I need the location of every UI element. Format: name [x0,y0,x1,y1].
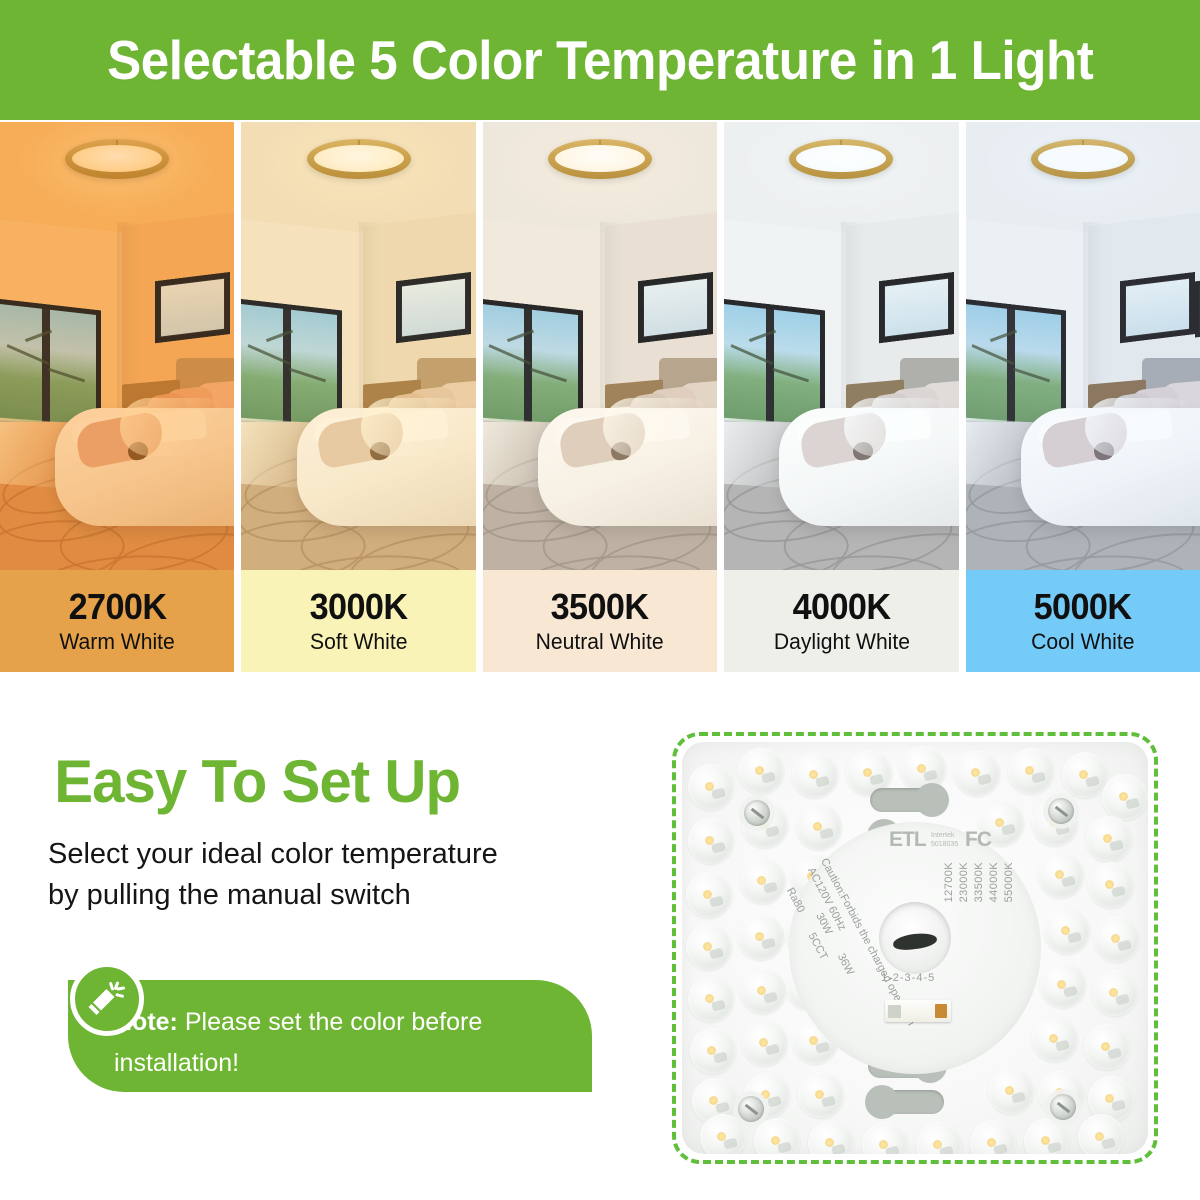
note-text: Note: Please set the color before instal… [114,1002,574,1083]
ct-label-4000k: 4000K Daylight White [724,570,958,672]
ct-name: Cool White [1031,630,1134,654]
ct-kelvin: 2700K [68,588,166,626]
infographic-page: Selectable 5 Color Temperature in 1 Ligh… [0,0,1200,1200]
bed [1008,358,1200,528]
cert-number: Intertek 5018035 [931,832,958,850]
manual-switch[interactable] [885,1000,951,1022]
module-body: ETL Intertek 5018035 FC Caution:Forbids … [682,742,1148,1154]
cct-option-2700k: 12700K [943,862,955,902]
setup-subtitle-line2: by pulling the manual switch [48,875,608,916]
window-small [396,272,471,343]
ceiling-light-fixture [548,139,652,179]
page-title: Selectable 5 Color Temperature in 1 Ligh… [107,33,1093,88]
window-small-edge [1195,278,1200,337]
ct-kelvin: 5000K [1034,588,1132,626]
ct-kelvin: 3000K [310,588,408,626]
room-photo-5000k [966,122,1200,570]
ct-panel-2700k: 2700K Warm White [0,122,234,672]
ct-panel-5000k: 5000K Cool White [966,122,1200,672]
cri-spec: Ra80 [784,886,807,915]
bed [766,358,958,528]
setup-heading: Easy To Set Up [54,752,460,812]
ct-label-2700k: 2700K Warm White [0,570,234,672]
color-temperature-strip: 2700K Warm White [0,122,1200,672]
ct-kelvin: 4000K [792,588,890,626]
ceiling-light-fixture [789,139,893,179]
led-module: ETL Intertek 5018035 FC Caution:Forbids … [672,732,1158,1164]
ct-panel-3000k: 3000K Soft White [241,122,475,672]
bed [284,358,476,528]
bed [42,358,234,528]
ct-label-3500k: 3500K Neutral White [483,570,717,672]
cct-option-3000k: 23000K [958,862,970,902]
cct-option-3500k: 33500K [973,862,985,902]
window-small [1120,272,1195,343]
ct-label-3000k: 3000K Soft White [241,570,475,672]
megaphone-icon [70,962,144,1036]
ct-label-5000k: 5000K Cool White [966,570,1200,672]
setup-subtitle: Select your ideal color temperature by p… [48,834,608,916]
room-photo-3000k [241,122,475,570]
cct-option-4000k: 44000K [988,862,1000,902]
cct-option-list: 12700K 23000K 33500K 44000K 55000K [943,862,1015,902]
switch-positions: 1-2-3-4-5 [881,972,935,984]
ct-name: Soft White [310,630,407,654]
room-photo-3500k [483,122,717,570]
room-photo-4000k [724,122,958,570]
ct-name: Daylight White [773,630,909,654]
wattage-option-2: 36W [835,952,856,978]
room-photo-2700k [0,122,234,570]
cct-option-5000k: 55000K [1003,862,1015,902]
module-center-label: ETL Intertek 5018035 FC Caution:Forbids … [789,822,1041,1074]
ct-kelvin: 3500K [551,588,649,626]
etl-cert-icon: ETL [889,828,926,852]
ct-panel-4000k: 4000K Daylight White [724,122,958,672]
setup-section: Easy To Set Up Select your ideal color t… [0,700,1200,1200]
window-small [155,272,230,343]
setup-subtitle-line1: Select your ideal color temperature [48,834,608,875]
ct-name: Warm White [60,630,175,654]
window-small [638,272,713,343]
ceiling-light-fixture [65,139,169,179]
note-callout: Note: Please set the color before instal… [68,962,592,1092]
bed [525,358,717,528]
ct-name: Neutral White [536,630,664,654]
ceiling-light-fixture [1031,139,1135,179]
module-center-hub [879,902,951,974]
header-banner: Selectable 5 Color Temperature in 1 Ligh… [0,0,1200,120]
ct-panel-3500k: 3500K Neutral White [483,122,717,672]
fcc-cert-icon: FC [965,828,991,852]
window-small [879,272,954,343]
ceiling-light-fixture [307,139,411,179]
